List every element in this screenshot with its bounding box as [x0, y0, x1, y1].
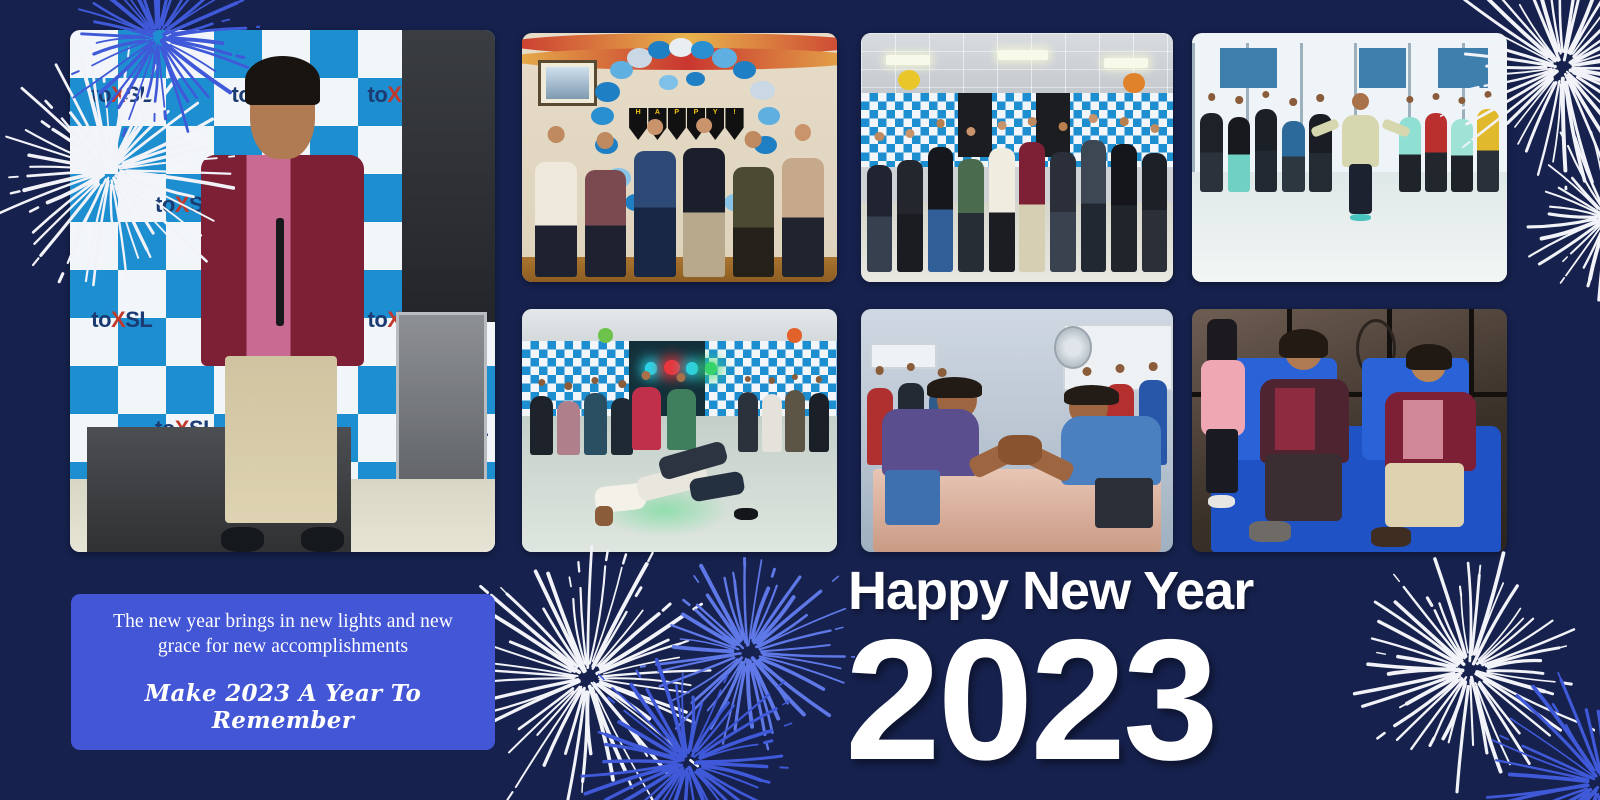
brand-logo-text: toXSL: [91, 82, 152, 107]
push-up-game-photo: [522, 309, 837, 552]
team-balloon-arch-photo: H A P P Y !: [522, 33, 837, 282]
firework-bottom-right-white: [1345, 545, 1595, 795]
quote-box: The new year brings in new lights and ne…: [71, 594, 495, 750]
speaker-on-stage-photo: toXSL toXSL toXSL toXSL toXSL toXSL toXS…: [70, 30, 495, 552]
sofa-portrait-photo: [1192, 309, 1507, 552]
firework-bottom-center-blue: [640, 545, 855, 760]
quote-tagline: Make 2023 A Year To Remember: [93, 680, 473, 734]
firework-bottom-mid-blue: [580, 655, 795, 800]
quote-line: The new year brings in new lights and ne…: [93, 610, 473, 660]
firework-bottom-right-blue: [1480, 660, 1600, 800]
award-ceremony-photo: [861, 33, 1173, 282]
arm-wrestling-photo: [861, 309, 1173, 552]
greeting-year: 2023: [845, 614, 1216, 786]
dance-performance-photo: [1192, 33, 1507, 282]
firework-right-edge-white: [1520, 130, 1600, 305]
poster-canvas: toXSL toXSL toXSL toXSL toXSL toXSL toXS…: [0, 0, 1600, 800]
